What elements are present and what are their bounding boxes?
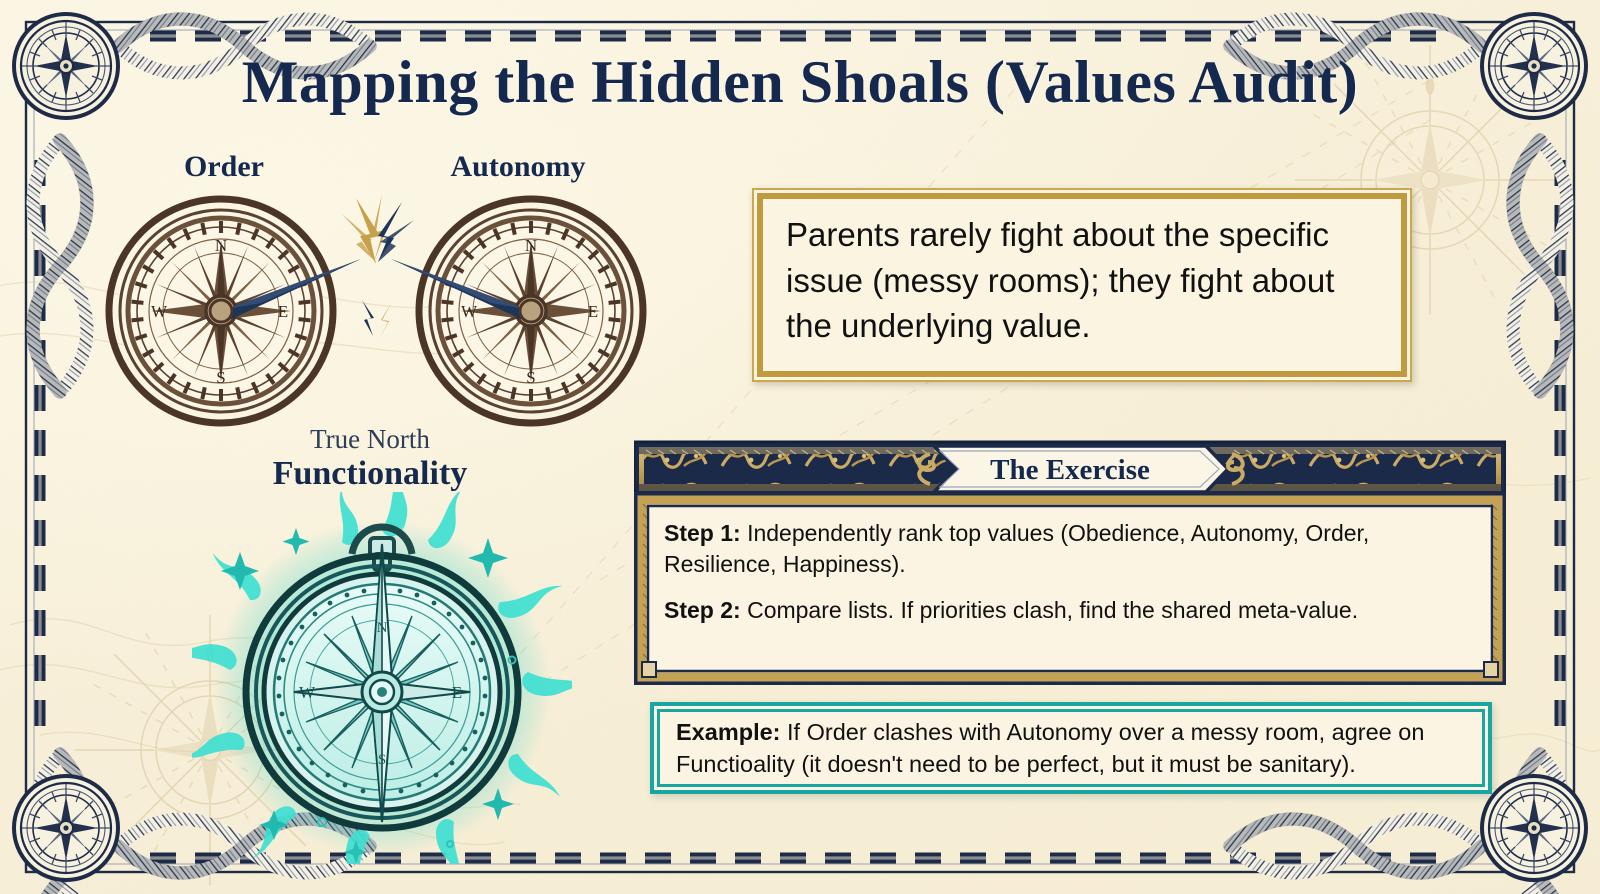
true-north-eyebrow: True North [220, 424, 520, 455]
cardinal-s: S [378, 752, 386, 768]
cardinal-n: N [377, 620, 388, 636]
step-label: Step 2: [664, 597, 741, 623]
label-order: Order [124, 150, 324, 184]
exercise-panel: The Exercise Step 1: Independently rank … [634, 440, 1506, 685]
cardinal-n: N [525, 236, 537, 255]
step-text: Compare lists. If priorities clash, find… [741, 597, 1358, 623]
step-item: Step 1: Independently rank top values (O… [664, 518, 1472, 579]
cardinal-e: E [278, 302, 288, 321]
quote-callout-box: Parents rarely fight about the specific … [752, 188, 1412, 382]
cardinal-w: W [299, 683, 316, 702]
cardinal-e: E [452, 683, 462, 702]
glowing-compass-icon: N E S W [192, 492, 572, 864]
cardinal-n: N [215, 236, 227, 255]
quote-text: Parents rarely fight about the specific … [786, 212, 1384, 349]
step-label: Step 1: [664, 520, 741, 546]
clashing-compass-illustration: N E S W N E S W [96, 186, 656, 436]
lightning-clash-icon [342, 194, 414, 338]
true-north-label: Functionality [200, 455, 540, 493]
page-title: Mapping the Hidden Shoals (Values Audit) [0, 48, 1600, 117]
exercise-steps: Step 1: Independently rank top values (O… [664, 518, 1472, 642]
label-autonomy: Autonomy [418, 150, 618, 184]
slide-canvas: Mapping the Hidden Shoals (Values Audit) [0, 0, 1600, 894]
cardinal-w: W [151, 302, 168, 321]
example-body: If Order clashes with Autonomy over a me… [676, 719, 1424, 777]
cardinal-e: E [588, 302, 598, 321]
example-text: Example: If Order clashes with Autonomy … [676, 717, 1472, 780]
cardinal-s: S [526, 368, 535, 387]
step-item: Step 2: Compare lists. If priorities cla… [664, 595, 1472, 626]
exercise-banner-title: The Exercise [634, 454, 1506, 487]
cardinal-s: S [216, 368, 225, 387]
example-label: Example: [676, 719, 781, 745]
step-text: Independently rank top values (Obedience… [664, 520, 1369, 577]
example-callout-box: Example: If Order clashes with Autonomy … [650, 702, 1492, 794]
cardinal-w: W [461, 302, 478, 321]
